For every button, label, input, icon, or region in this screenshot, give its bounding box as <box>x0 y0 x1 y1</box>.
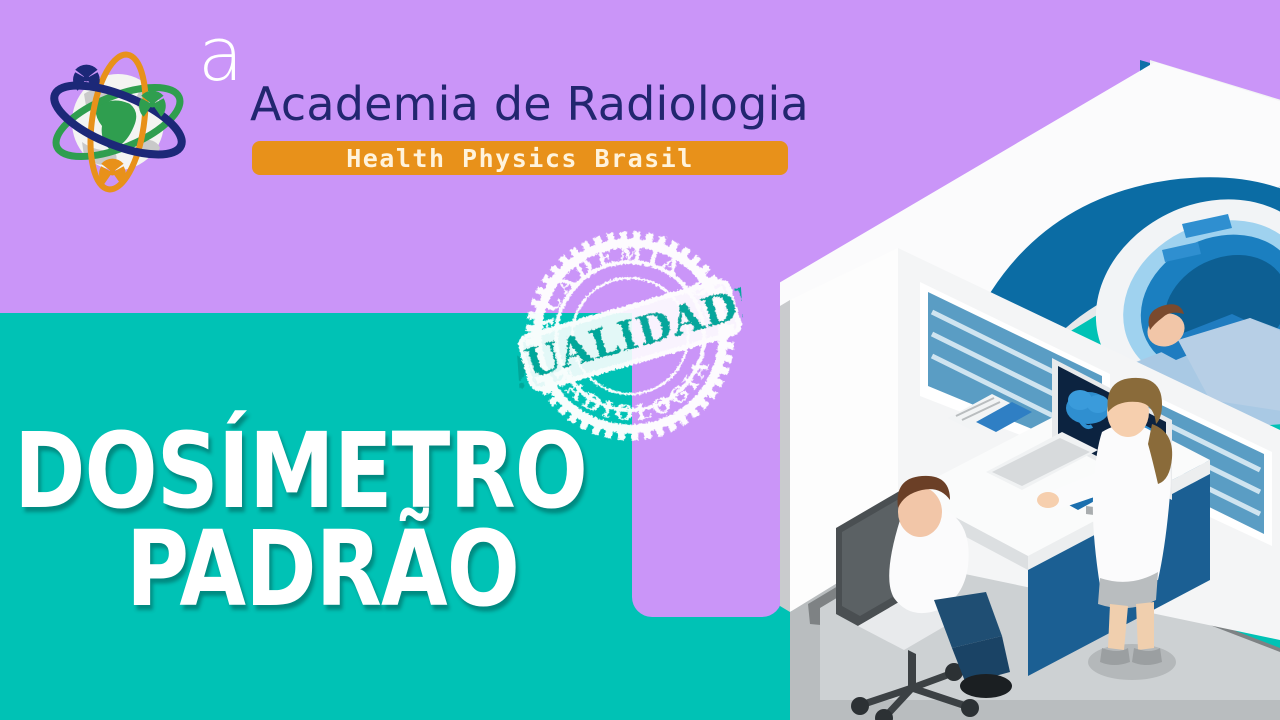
brand-tagline-text: Health Physics Brasil <box>346 144 694 173</box>
brand-tagline-badge: Health Physics Brasil <box>252 141 788 175</box>
brand-logo: a Academia de Radiologia Health Physics … <box>44 22 804 192</box>
slide-canvas: a Academia de Radiologia Health Physics … <box>0 0 1280 720</box>
page-title: DOSÍMETRO PADRÃO <box>14 424 674 617</box>
globe-atom-icon <box>44 44 200 196</box>
radiology-room-illustration <box>780 0 1280 720</box>
page-title-line-2: PADRÃO <box>126 522 630 618</box>
technician-shoe <box>960 674 1012 698</box>
page-title-line-1: DOSÍMETRO <box>14 424 621 520</box>
radiation-trefoil-orange <box>99 159 126 185</box>
logo-superscript-a: a <box>198 18 243 92</box>
brand-name-text: Academia de Radiologia <box>250 78 809 130</box>
